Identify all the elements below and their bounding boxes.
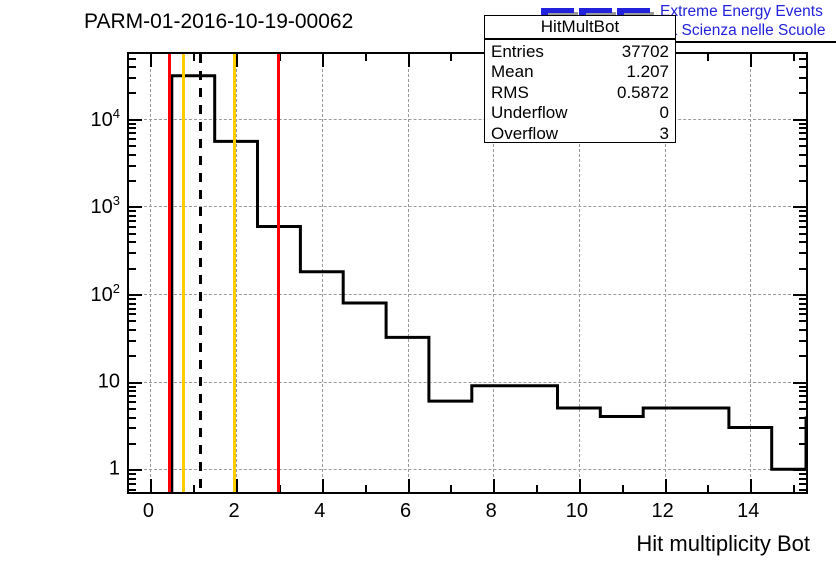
- marker-line-black-mean: [199, 54, 202, 492]
- x-axis-label: 10: [566, 500, 588, 523]
- marker-line-red-high: [277, 54, 280, 492]
- eee-logo-line1: Extreme Energy Events: [660, 2, 825, 21]
- stats-row: Overflow3: [491, 124, 669, 144]
- stats-value: 0: [660, 103, 669, 123]
- y-axis-labels: 110102103104: [56, 52, 120, 494]
- stats-row: Underflow0: [491, 103, 669, 123]
- stats-title: HitMultBot: [485, 17, 675, 40]
- plot-canvas: [129, 54, 806, 492]
- stats-key: RMS: [491, 83, 529, 103]
- x-axis-label: 12: [651, 500, 673, 523]
- y-axis-label: 104: [91, 106, 120, 132]
- stats-value: 1.207: [626, 62, 669, 82]
- stats-row: Mean1.207: [491, 62, 669, 82]
- stats-value: 3: [660, 124, 669, 144]
- stats-key: Mean: [491, 62, 534, 82]
- stats-rows: Entries37702Mean1.207RMS0.5872Underflow0…: [491, 42, 669, 144]
- stats-key: Underflow: [491, 103, 568, 123]
- y-axis-label: 1: [109, 458, 120, 481]
- eee-logo-line2: La Scienza nelle Scuole: [660, 21, 825, 40]
- stats-key: Overflow: [491, 124, 558, 144]
- x-axis-title: Hit multiplicity Bot: [636, 531, 810, 557]
- stats-value: 0.5872: [617, 83, 669, 103]
- x-axis-label: 6: [400, 500, 411, 523]
- stats-key: Entries: [491, 42, 544, 62]
- stats-value: 37702: [622, 42, 669, 62]
- marker-line-red-low: [168, 54, 171, 492]
- marker-line-orange-high: [233, 54, 236, 492]
- y-axis-label: 103: [91, 194, 120, 220]
- histogram-plot: [127, 52, 808, 494]
- stats-row: Entries37702: [491, 42, 669, 62]
- x-axis-label: 14: [737, 500, 759, 523]
- x-axis-label: 0: [143, 500, 154, 523]
- x-axis-label: 2: [229, 500, 240, 523]
- x-axis-label: 8: [486, 500, 497, 523]
- stats-box: HitMultBot Entries37702Mean1.207RMS0.587…: [484, 15, 676, 143]
- eee-logo-text: Extreme Energy Events La Scienza nelle S…: [660, 2, 825, 40]
- marker-line-orange-low: [182, 54, 185, 492]
- y-axis-label: 10: [98, 370, 120, 393]
- x-axis-labels: 02468101214: [127, 500, 808, 528]
- stats-row: RMS0.5872: [491, 83, 669, 103]
- page-title: PARM-01-2016-10-19-00062: [84, 10, 353, 34]
- y-axis-label: 102: [91, 281, 120, 307]
- x-axis-label: 4: [314, 500, 325, 523]
- histogram-curve: [129, 54, 806, 492]
